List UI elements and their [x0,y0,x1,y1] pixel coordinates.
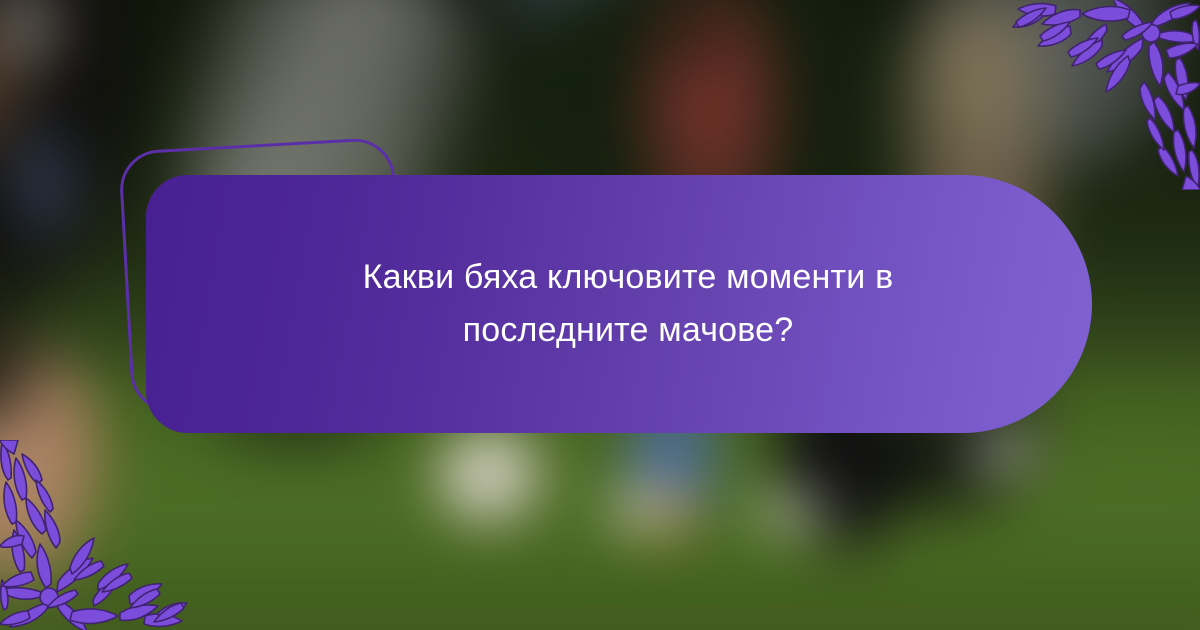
poster-canvas: Какви бяха ключовите моменти в последнит… [0,0,1200,630]
floral-damask-corner-ornament-top-right [1010,0,1200,190]
question-card: Какви бяха ключовите моменти в последнит… [146,175,1092,433]
floral-damask-corner-ornament-bottom-left [0,440,190,630]
question-text: Какви бяха ключовите моменти в последнит… [289,251,949,356]
